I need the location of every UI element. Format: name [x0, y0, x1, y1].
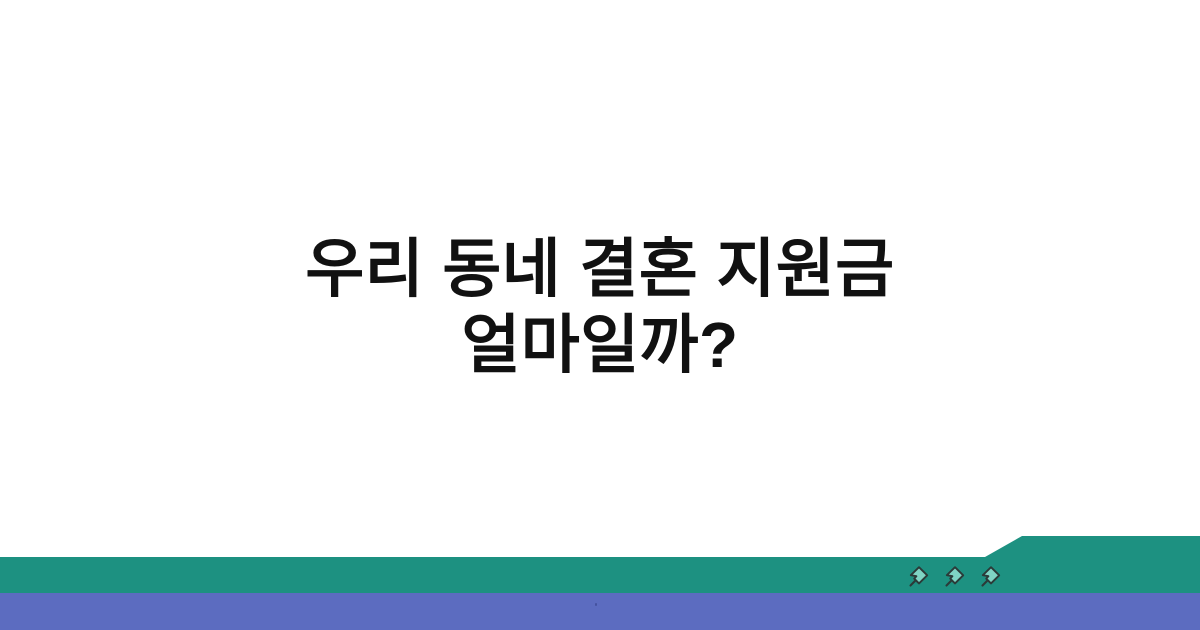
compression-speck [595, 603, 597, 606]
diamond-pin-row [908, 563, 1012, 589]
title-line-1: 우리 동네 결혼 지원금 [0, 232, 1200, 308]
title-line-2: 얼마일까? [0, 308, 1200, 384]
teal-band [0, 536, 1200, 593]
footer-bands [0, 520, 1200, 630]
diamond-pin-icon [944, 564, 966, 588]
page-title: 우리 동네 결혼 지원금 얼마일까? [0, 232, 1200, 383]
purple-band [0, 593, 1200, 630]
diamond-pin-icon [908, 564, 930, 588]
footer-band-shapes [0, 520, 1200, 630]
diamond-pin-icon [980, 564, 1002, 588]
card-canvas: 우리 동네 결혼 지원금 얼마일까? [0, 0, 1200, 630]
